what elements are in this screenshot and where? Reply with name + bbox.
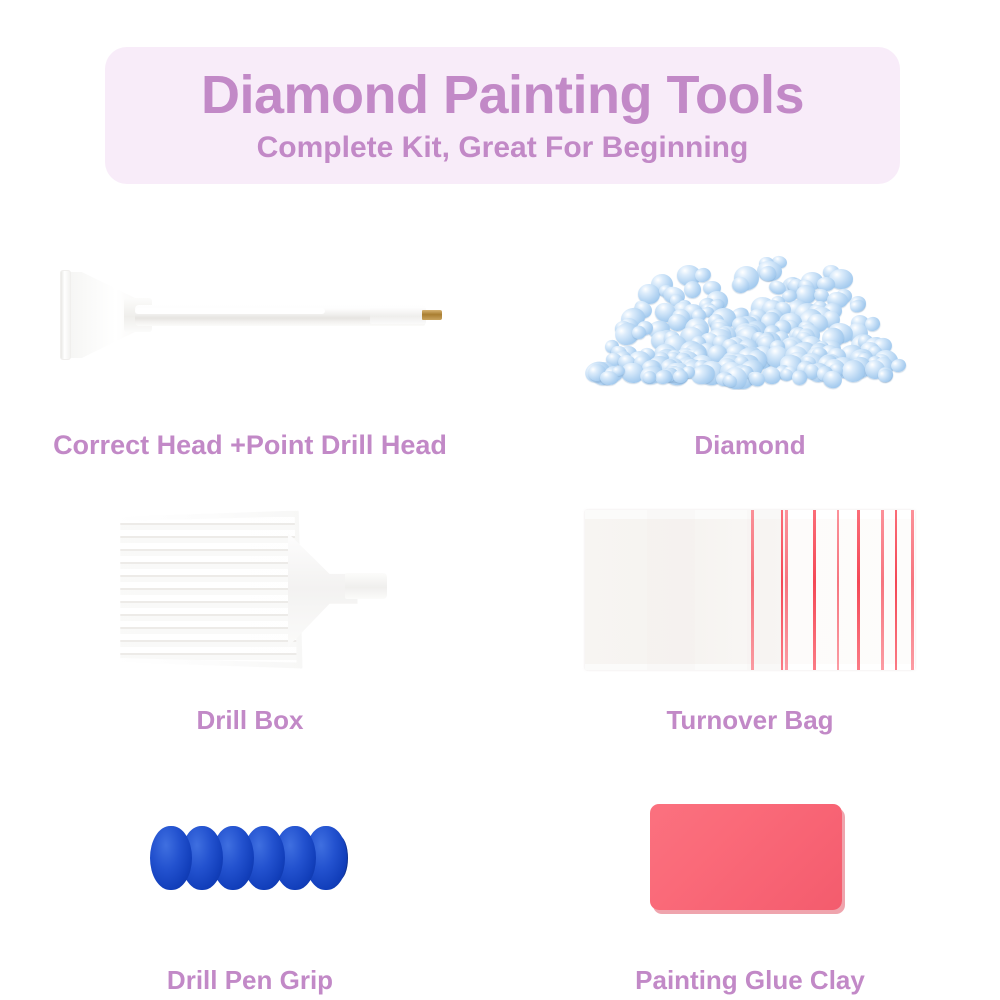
product-grid: Correct Head +Point Drill Head Diamond D…: [0, 200, 1000, 1000]
bag-red-stripe: [785, 510, 788, 670]
bag-sheet-shade: [695, 510, 747, 670]
product-label-painting-glue-clay: Painting Glue Clay: [635, 965, 865, 1000]
grip-segment: [150, 826, 192, 890]
product-cell-painting-glue-clay[interactable]: Painting Glue Clay: [500, 755, 1000, 1000]
drill-tray-illustration: [113, 503, 388, 678]
diamond-drill: [672, 369, 688, 383]
pen-ferrule: [370, 307, 426, 324]
bag-red-stripe: [837, 510, 839, 670]
product-cell-drill-pen-grip[interactable]: Drill Pen Grip: [0, 755, 500, 1000]
tray-spout: [345, 573, 387, 599]
glue-clay-photo: [500, 755, 1000, 965]
drill-pen-illustration: [50, 260, 450, 370]
page-subtitle: Complete Kit, Great For Beginning: [257, 131, 749, 164]
bag-sheet-shade: [585, 510, 647, 670]
tray-grooves: [119, 517, 297, 663]
glue-clay-illustration: [650, 804, 850, 916]
pen-brass-tip: [422, 310, 442, 320]
bag-red-stripe: [857, 510, 860, 670]
bag-red-stripe: [781, 510, 783, 670]
page-title: Diamond Painting Tools: [201, 67, 804, 124]
product-label-turnover-bag: Turnover Bag: [666, 705, 833, 740]
pen-head-edge: [60, 270, 71, 360]
product-cell-correct-head-point-drill-head[interactable]: Correct Head +Point Drill Head: [0, 200, 500, 465]
diamond-drills-photo: [500, 200, 1000, 430]
drill-pen-photo: [0, 200, 500, 430]
bag-red-stripe: [813, 510, 816, 670]
product-label-drill-pen-grip: Drill Pen Grip: [167, 965, 333, 1000]
glue-clay-block: [650, 804, 842, 910]
turnover-bag-illustration: [585, 510, 915, 670]
turnover-bag-photo: [500, 475, 1000, 705]
bag-red-stripe: [881, 510, 884, 670]
drill-tray-photo: [0, 475, 500, 705]
diamond-drill: [682, 280, 702, 300]
product-label-drill-box: Drill Box: [197, 705, 304, 740]
product-label-diamond: Diamond: [694, 430, 805, 465]
product-cell-turnover-bag[interactable]: Turnover Bag: [500, 475, 1000, 740]
bag-sheet-shade: [647, 510, 695, 670]
pen-grip-photo: [0, 755, 500, 965]
pen-grip-illustration: [150, 820, 350, 900]
header-banner: Diamond Painting Tools Complete Kit, Gre…: [105, 47, 900, 184]
diamond-drills-illustration: [585, 240, 915, 390]
bag-red-stripe: [751, 510, 754, 670]
bag-red-stripe: [895, 510, 897, 670]
product-cell-drill-box[interactable]: Drill Box: [0, 475, 500, 740]
product-label-correct-head-point-drill-head: Correct Head +Point Drill Head: [53, 430, 447, 465]
bag-red-stripe: [911, 510, 914, 670]
product-cell-diamond[interactable]: Diamond: [500, 200, 1000, 465]
